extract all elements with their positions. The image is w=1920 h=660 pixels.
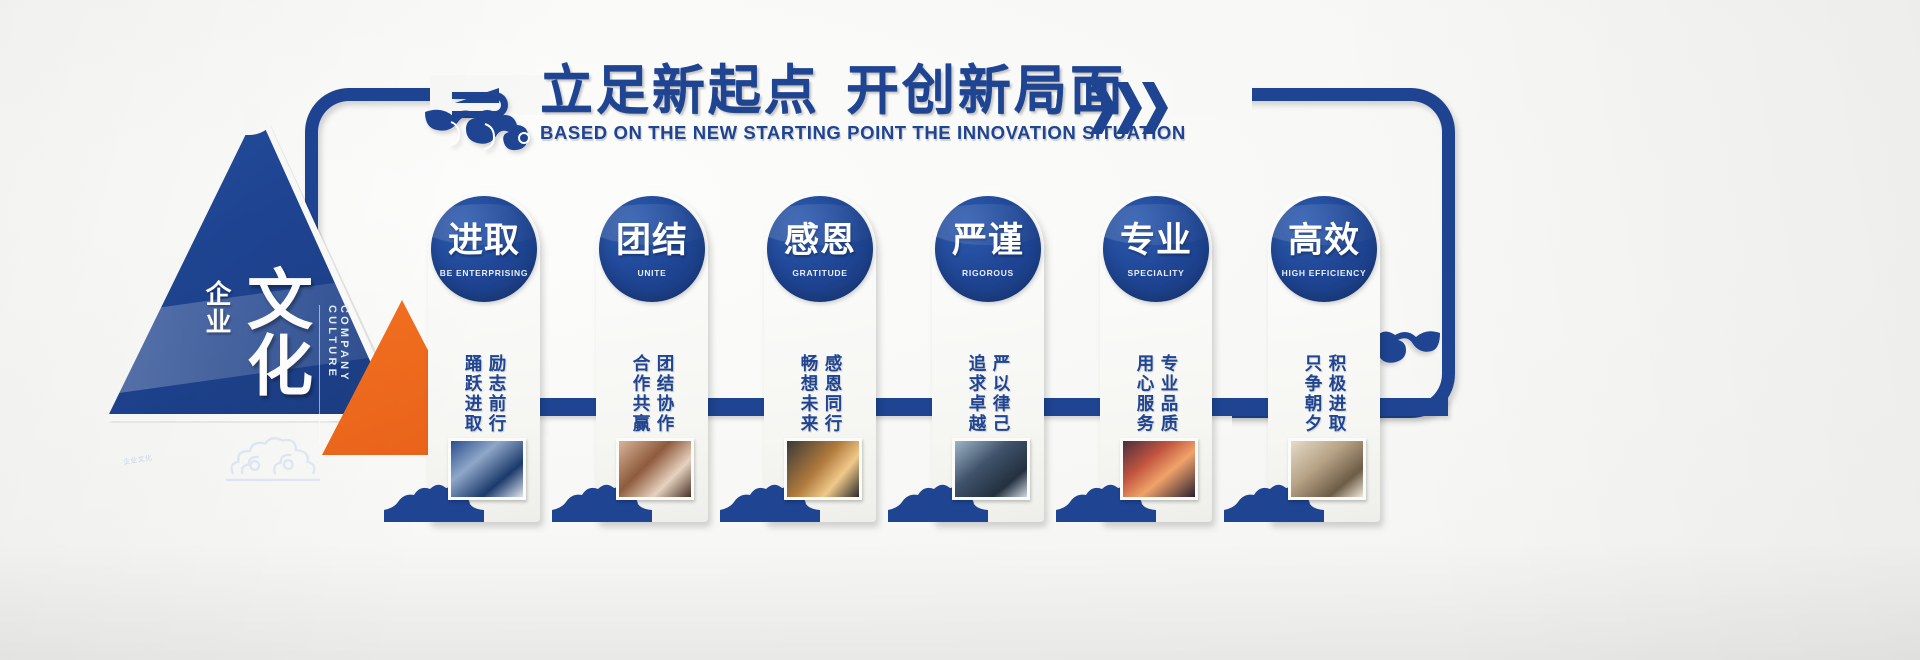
pill-title-en: BE ENTERPRISING — [431, 268, 537, 278]
pill-badge-circle: 高效HIGH EFFICIENCY — [1271, 196, 1377, 302]
pill-title-cn: 进取 — [431, 222, 537, 260]
value-pill-6: 高效HIGH EFFICIENCY积极进取只争朝夕 — [1268, 192, 1380, 522]
pill-title-cn: 高效 — [1271, 222, 1377, 260]
pill-phrase-group: 专业品质用心服务 — [1100, 314, 1212, 434]
pill-badge-circle: 进取BE ENTERPRISING — [431, 196, 537, 302]
plaque-apex-round — [245, 105, 279, 135]
photo-enterprising — [448, 438, 526, 500]
pill-title-cn: 严谨 — [935, 222, 1041, 260]
pill-phrase-secondary: 踊跃进取 — [462, 314, 482, 434]
pill-phrase-secondary: 只争朝夕 — [1302, 314, 1322, 434]
headline-chinese-left: 立足新起点 — [540, 60, 820, 121]
value-pill-1: 进取BE ENTERPRISING励志前行踊跃进取 — [428, 192, 540, 522]
value-pill-3: 感恩GRATITUDE感恩同行畅想未来 — [764, 192, 876, 522]
pill-title-cn: 团结 — [599, 222, 705, 260]
chevron-group — [1090, 82, 1168, 134]
photo-gratitude — [784, 438, 862, 500]
headline-english: BASED ON THE NEW STARTING POINT THE INNO… — [540, 122, 1120, 144]
photo-unite — [616, 438, 694, 500]
pill-title-en: RIGOROUS — [935, 268, 1041, 278]
headline-chinese-right: 开创新局面 — [846, 60, 1126, 121]
chinese-cloud-icon — [425, 108, 550, 173]
plaque-title-small: 企业 — [201, 280, 230, 336]
pill-title-en: GRATITUDE — [767, 268, 873, 278]
chevron-right-icon — [1142, 82, 1168, 134]
chevron-right-icon — [1090, 82, 1116, 134]
pill-phrase-secondary: 用心服务 — [1134, 314, 1154, 434]
plaque-maker-stamp: 企业文化 — [122, 453, 153, 468]
pill-phrase-primary: 专业品质 — [1158, 314, 1178, 434]
pill-badge-circle: 严谨RIGOROUS — [935, 196, 1041, 302]
pill-title-en: UNITE — [599, 268, 705, 278]
headline-block: 立足新起点开创新局面 BASED ON THE NEW STARTING POI… — [540, 62, 1120, 144]
culture-wall-photo: 立足新起点开创新局面 BASED ON THE NEW STARTING POI… — [0, 0, 1920, 660]
pill-title-cn: 感恩 — [767, 222, 873, 260]
pill-phrase-group: 励志前行踊跃进取 — [428, 314, 540, 434]
pill-phrase-primary: 团结协作 — [654, 314, 674, 434]
pill-badge-circle: 团结UNITE — [599, 196, 705, 302]
pill-phrase-group: 团结协作合作共赢 — [596, 314, 708, 434]
photo-high-efficiency — [1288, 438, 1366, 500]
chevron-right-icon — [1116, 82, 1142, 134]
pill-phrase-group: 严以律己追求卓越 — [932, 314, 1044, 434]
photo-speciality — [1120, 438, 1198, 500]
pill-phrase-group: 积极进取只争朝夕 — [1268, 314, 1380, 434]
plaque-title-big: 文化 — [239, 265, 311, 397]
pill-phrase-primary: 励志前行 — [486, 314, 506, 434]
pill-phrase-primary: 积极进取 — [1326, 314, 1346, 434]
chinese-cloud-icon — [225, 425, 321, 483]
pill-badge-circle: 感恩GRATITUDE — [767, 196, 873, 302]
pill-badge-circle: 专业SPECIALITY — [1103, 196, 1209, 302]
pill-phrase-secondary: 合作共赢 — [630, 314, 650, 434]
pill-phrase-secondary: 畅想未来 — [798, 314, 818, 434]
right-bracket-mask-top — [1172, 75, 1252, 115]
pill-phrase-group: 感恩同行畅想未来 — [764, 314, 876, 434]
pill-phrase-primary: 感恩同行 — [822, 314, 842, 434]
pill-phrase-secondary: 追求卓越 — [966, 314, 986, 434]
pill-title-cn: 专业 — [1103, 222, 1209, 260]
pill-phrase-primary: 严以律己 — [990, 314, 1010, 434]
photo-rigorous — [952, 438, 1030, 500]
pill-title-en: HIGH EFFICIENCY — [1271, 268, 1377, 278]
value-pill-2: 团结UNITE团结协作合作共赢 — [596, 192, 708, 522]
headline-chinese: 立足新起点开创新局面 — [540, 62, 1120, 120]
pill-title-en: SPECIALITY — [1103, 268, 1209, 278]
value-pill-4: 严谨RIGOROUS严以律己追求卓越 — [932, 192, 1044, 522]
value-pill-5: 专业SPECIALITY专业品质用心服务 — [1100, 192, 1212, 522]
